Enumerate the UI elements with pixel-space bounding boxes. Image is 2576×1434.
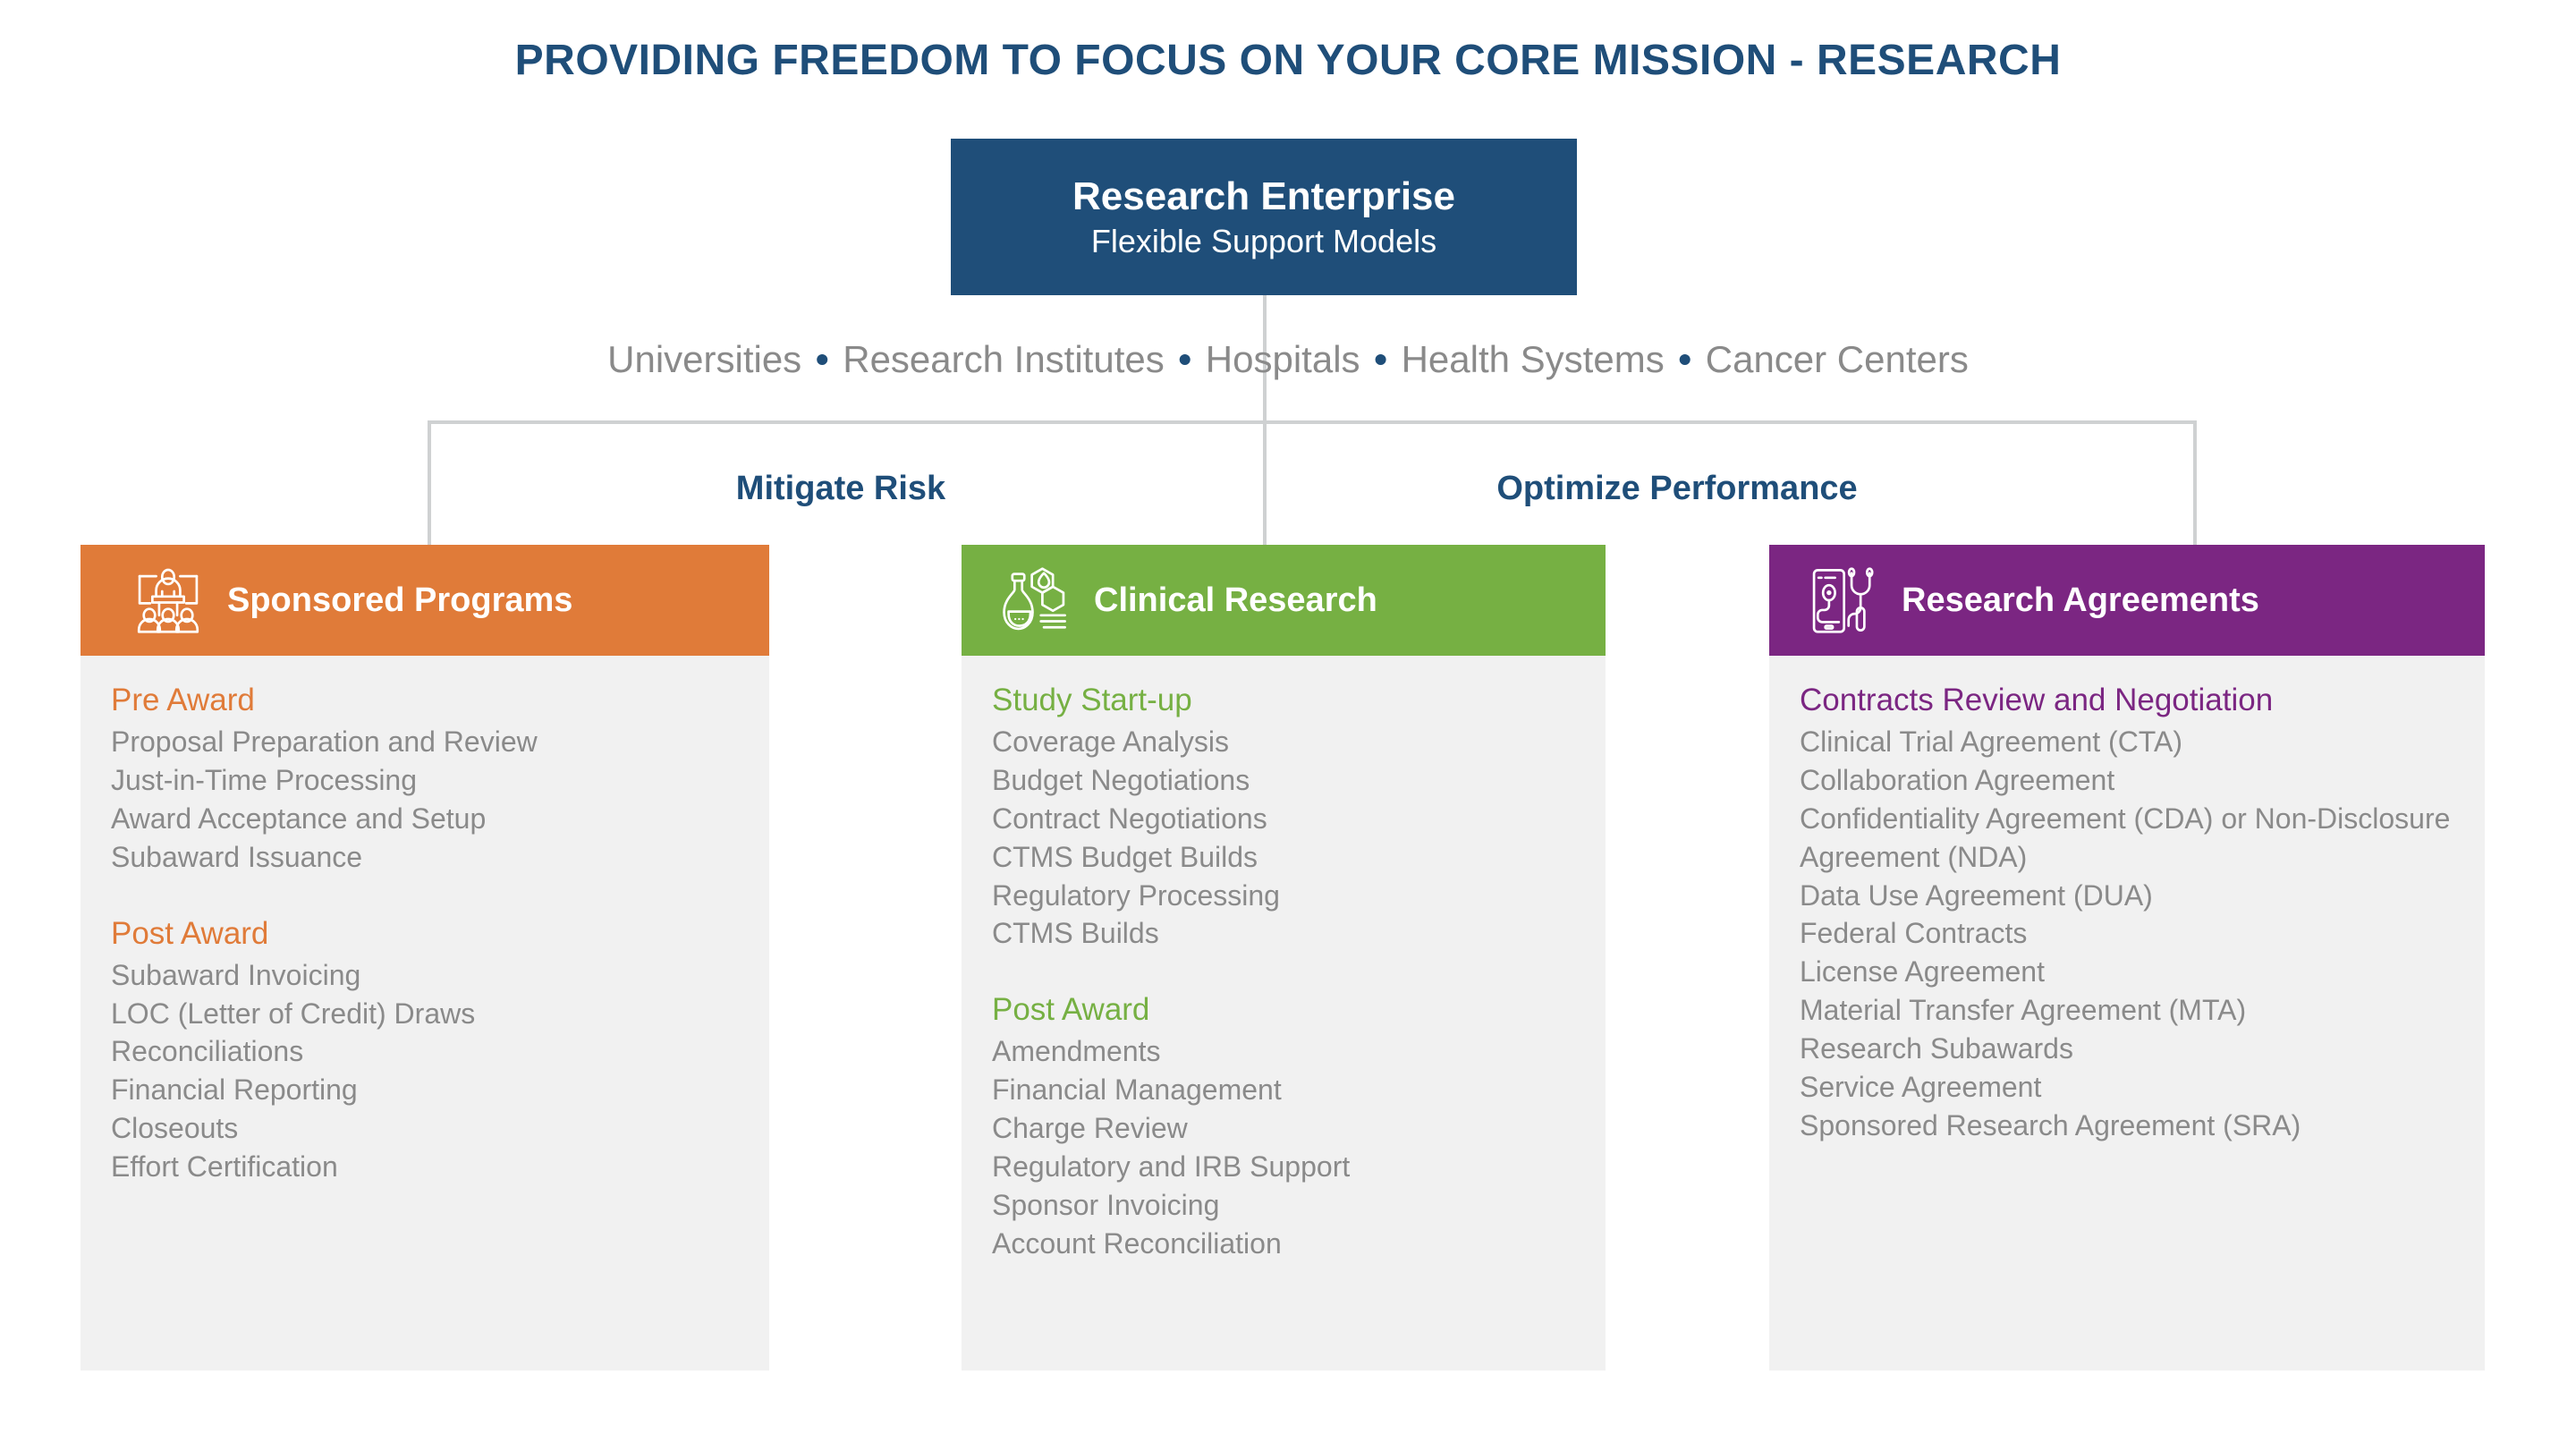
list-item: CTMS Builds [992,914,1575,953]
list-item: Regulatory and IRB Support [992,1148,1575,1186]
branch-label-optimize-performance: Optimize Performance [1458,470,1896,508]
list-item: Just-in-Time Processing [111,761,739,800]
list-item: Contract Negotiations [992,800,1575,838]
presentation-audience-icon [131,563,206,638]
root-node-title: Research Enterprise [1072,174,1455,220]
group-items: Proposal Preparation and ReviewJust-in-T… [111,723,739,877]
list-item: Sponsor Invoicing [992,1186,1575,1225]
list-item: Service Agreement [1800,1068,2454,1107]
group-title: Study Start-up [992,681,1575,720]
audience-separator: • [1665,338,1706,380]
group-post-award: Post Award Subaward InvoicingLOC (Letter… [111,914,739,1186]
list-item: Collaboration Agreement [1800,761,2454,800]
list-item: Data Use Agreement (DUA) [1800,877,2454,915]
list-item: Subaward Issuance [111,838,739,877]
card-header-sponsored-programs: Sponsored Programs [80,545,769,656]
card-body-clinical-research: Study Start-up Coverage AnalysisBudget N… [962,656,1606,1370]
card-sponsored-programs: Sponsored Programs Pre Award Proposal Pr… [80,545,769,1370]
audience-item: Hospitals [1206,338,1360,380]
list-item: Financial Management [992,1071,1575,1109]
card-body-sponsored-programs: Pre Award Proposal Preparation and Revie… [80,656,769,1370]
list-item: Material Transfer Agreement (MTA) [1800,991,2454,1030]
card-title-research-agreements: Research Agreements [1902,581,2259,620]
branch-label-mitigate-risk: Mitigate Risk [716,470,966,508]
list-item: Budget Negotiations [992,761,1575,800]
audience-separator: • [1360,338,1402,380]
list-item: Closeouts [111,1109,739,1148]
connector-drop-right [2193,420,2197,547]
group-contracts-review-and-negotiation: Contracts Review and Negotiation Clinica… [1800,681,2454,1145]
group-items: Coverage AnalysisBudget NegotiationsCont… [992,723,1575,953]
card-header-research-agreements: Research Agreements [1769,545,2485,656]
page-title: PROVIDING FREEDOM TO FOCUS ON YOUR CORE … [0,36,2576,85]
audience-item: Health Systems [1402,338,1665,380]
group-study-start-up: Study Start-up Coverage AnalysisBudget N… [992,681,1575,953]
list-item: Proposal Preparation and Review [111,723,739,761]
group-items: Clinical Trial Agreement (CTA)Collaborat… [1800,723,2454,1145]
flask-molecule-icon [997,563,1072,638]
list-item: Research Subawards [1800,1030,2454,1068]
list-item: Financial Reporting [111,1071,739,1109]
audience-item: Universities [607,338,801,380]
connector-horizontal-rail [428,420,2197,424]
list-item: Regulatory Processing [992,877,1575,915]
audience-separator: • [1165,338,1206,380]
group-items: AmendmentsFinancial ManagementCharge Rev… [992,1032,1575,1262]
card-title-sponsored-programs: Sponsored Programs [227,581,572,620]
audience-item: Research Institutes [843,338,1165,380]
list-item: Confidentiality Agreement (CDA) or Non-D… [1800,800,2454,877]
group-title: Post Award [111,914,739,954]
diagram-canvas: PROVIDING FREEDOM TO FOCUS ON YOUR CORE … [0,0,2576,1434]
list-item: Subaward Invoicing [111,956,739,995]
card-research-agreements: Research Agreements Contracts Review and… [1769,545,2485,1370]
card-body-research-agreements: Contracts Review and Negotiation Clinica… [1769,656,2485,1370]
audience-separator: • [801,338,843,380]
root-node-research-enterprise: Research Enterprise Flexible Support Mod… [951,139,1577,295]
list-item: Effort Certification [111,1148,739,1186]
group-title: Post Award [992,990,1575,1030]
list-item: Account Reconciliation [992,1225,1575,1263]
group-title: Pre Award [111,681,739,720]
connector-drop-left [428,420,431,547]
audience-item: Cancer Centers [1706,338,1969,380]
list-item: LOC (Letter of Credit) Draws [111,995,739,1033]
card-clinical-research: Clinical Research Study Start-up Coverag… [962,545,1606,1370]
list-item: Charge Review [992,1109,1575,1148]
group-title: Contracts Review and Negotiation [1800,681,2454,720]
list-item: Amendments [992,1032,1575,1071]
list-item: CTMS Budget Builds [992,838,1575,877]
card-title-clinical-research: Clinical Research [1094,581,1377,620]
list-item: Federal Contracts [1800,914,2454,953]
list-item: Award Acceptance and Setup [111,800,739,838]
list-item: License Agreement [1800,953,2454,991]
card-header-clinical-research: Clinical Research [962,545,1606,656]
root-node-subtitle: Flexible Support Models [1091,222,1436,260]
smartphone-stethoscope-icon [1805,563,1880,638]
list-item: Reconciliations [111,1032,739,1071]
audience-list: Universities • Research Institutes • Hos… [0,338,2576,381]
group-items: Subaward InvoicingLOC (Letter of Credit)… [111,956,739,1186]
list-item: Coverage Analysis [992,723,1575,761]
list-item: Sponsored Research Agreement (SRA) [1800,1107,2454,1145]
group-post-award: Post Award AmendmentsFinancial Managemen… [992,990,1575,1262]
list-item: Clinical Trial Agreement (CTA) [1800,723,2454,761]
connector-drop-center [1263,420,1267,547]
group-pre-award: Pre Award Proposal Preparation and Revie… [111,681,739,877]
